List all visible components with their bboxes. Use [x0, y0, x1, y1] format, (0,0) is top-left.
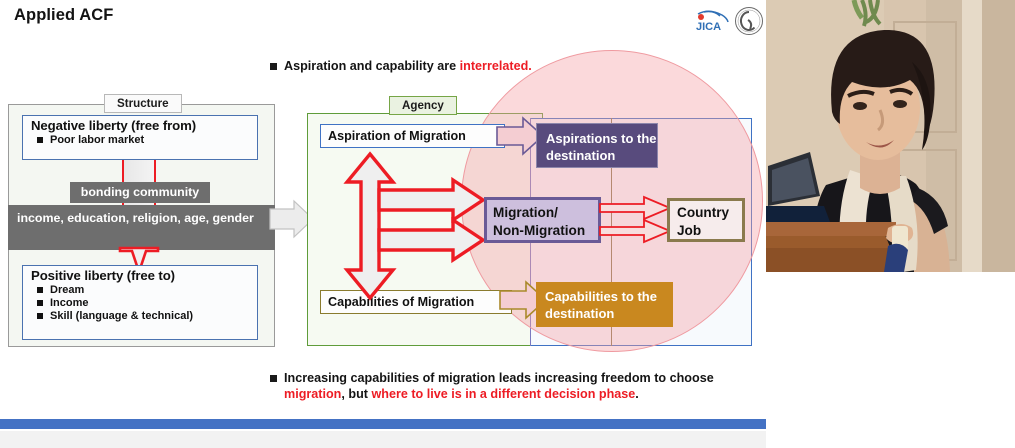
- bullet-increasing-capabilities: Increasing capabilities of migration lea…: [270, 370, 750, 402]
- presenter-at-podium-image: [766, 0, 1015, 272]
- bullet-square-icon: [270, 375, 277, 382]
- jica-logo: JICA: [694, 9, 734, 33]
- capabilities-to-destination-box: Capabilities to the destination: [536, 282, 673, 327]
- bottom-bullet-line1: Increasing capabilities of migration lea…: [284, 371, 714, 385]
- migration-to-job-arrow-icon: [600, 218, 672, 244]
- university-seal-logo: [734, 5, 764, 37]
- video-pane-background: [766, 272, 1015, 448]
- bullet-square-icon: [270, 63, 277, 70]
- bottom-bullet-period: .: [635, 387, 639, 401]
- top-bullet-lead: Aspiration and capability are: [284, 59, 460, 73]
- migration-decision-box: Migration/ Non-Migration: [484, 197, 601, 243]
- bullet-square-icon: [37, 287, 43, 293]
- bottom-bullet-phase: where to live is in a different decision…: [371, 387, 635, 401]
- presentation-screen: Applied ACF JICA Aspiration and capabili…: [0, 0, 1015, 448]
- migration-line-1: Migration/: [493, 204, 598, 222]
- page-title: Applied ACF: [14, 6, 113, 25]
- list-item: Skill (language & technical): [23, 310, 257, 322]
- bonding-community-band: bonding community: [70, 182, 210, 203]
- bullet-aspiration-capability: Aspiration and capability are interrelat…: [270, 58, 532, 74]
- svg-text:JICA: JICA: [696, 21, 721, 33]
- list-item: Poor labor market: [23, 134, 257, 146]
- negative-liberty-title: Negative liberty (free from): [23, 116, 257, 133]
- bullet-square-icon: [37, 313, 43, 319]
- outcome-country-job-box: Country Job: [667, 198, 745, 242]
- structure-tag: Structure: [104, 94, 182, 113]
- bottom-bullet-migration: migration: [284, 387, 341, 401]
- agency-tag: Agency: [389, 96, 457, 115]
- migration-line-2: Non-Migration: [493, 222, 598, 240]
- bottom-bullet-but: , but: [341, 387, 371, 401]
- outcome-line-2: Job: [677, 222, 742, 240]
- top-bullet-highlight: interrelated.: [460, 59, 532, 73]
- aspiration-capability-interrelation-arrow-icon: [345, 152, 495, 300]
- aspiration-of-migration-box: Aspiration of Migration: [320, 124, 505, 148]
- positive-liberty-title: Positive liberty (free to): [23, 266, 257, 283]
- speaker-video-feed[interactable]: [766, 0, 1015, 272]
- bullet-square-icon: [37, 300, 43, 306]
- list-item: Dream: [23, 284, 257, 296]
- slide-footer-bar: [0, 419, 784, 429]
- bullet-square-icon: [37, 137, 43, 143]
- negative-liberty-box: Negative liberty (free from) Poor labor …: [22, 115, 258, 160]
- list-item: Income: [23, 297, 257, 309]
- slide-footer-strip: [0, 431, 784, 448]
- positive-liberty-box: Positive liberty (free to) Dream Income …: [22, 265, 258, 340]
- structure-factors-band: income, education, religion, age, gender: [8, 205, 275, 250]
- aspirations-to-destination-box: Aspirations to the destination: [536, 123, 658, 168]
- slide-canvas: Applied ACF JICA Aspiration and capabili…: [0, 0, 784, 448]
- logo-cluster: JICA: [694, 3, 764, 37]
- outcome-line-1: Country: [677, 204, 742, 222]
